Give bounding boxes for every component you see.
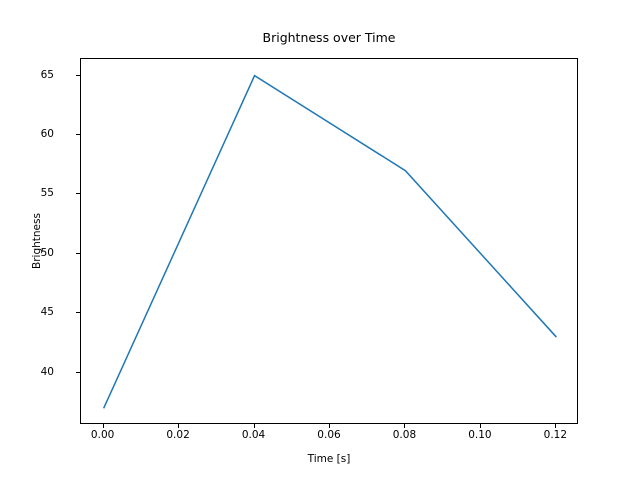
data-layer [81, 59, 579, 425]
x-tick-label: 0.00 [73, 429, 133, 441]
x-tick-label: 0.02 [148, 429, 208, 441]
y-tick-label: 55 [14, 187, 54, 199]
y-tick-label: 45 [14, 306, 54, 318]
y-tick-label: 50 [14, 247, 54, 259]
line-series-brightness [104, 76, 557, 409]
plot-area [80, 58, 578, 424]
chart-title: Brightness over Time [80, 30, 578, 45]
y-tick-label: 65 [14, 69, 54, 81]
x-tick-label: 0.08 [374, 429, 434, 441]
x-axis-label: Time [s] [80, 453, 578, 465]
x-tick-label: 0.04 [224, 429, 284, 441]
matplotlib-figure: Brightness over Time Brightness Time [s]… [0, 0, 640, 480]
x-tick-label: 0.10 [450, 429, 510, 441]
y-tick-label: 60 [14, 128, 54, 140]
x-tick-label: 0.12 [525, 429, 585, 441]
y-tick-label: 40 [14, 366, 54, 378]
x-tick-label: 0.06 [299, 429, 359, 441]
